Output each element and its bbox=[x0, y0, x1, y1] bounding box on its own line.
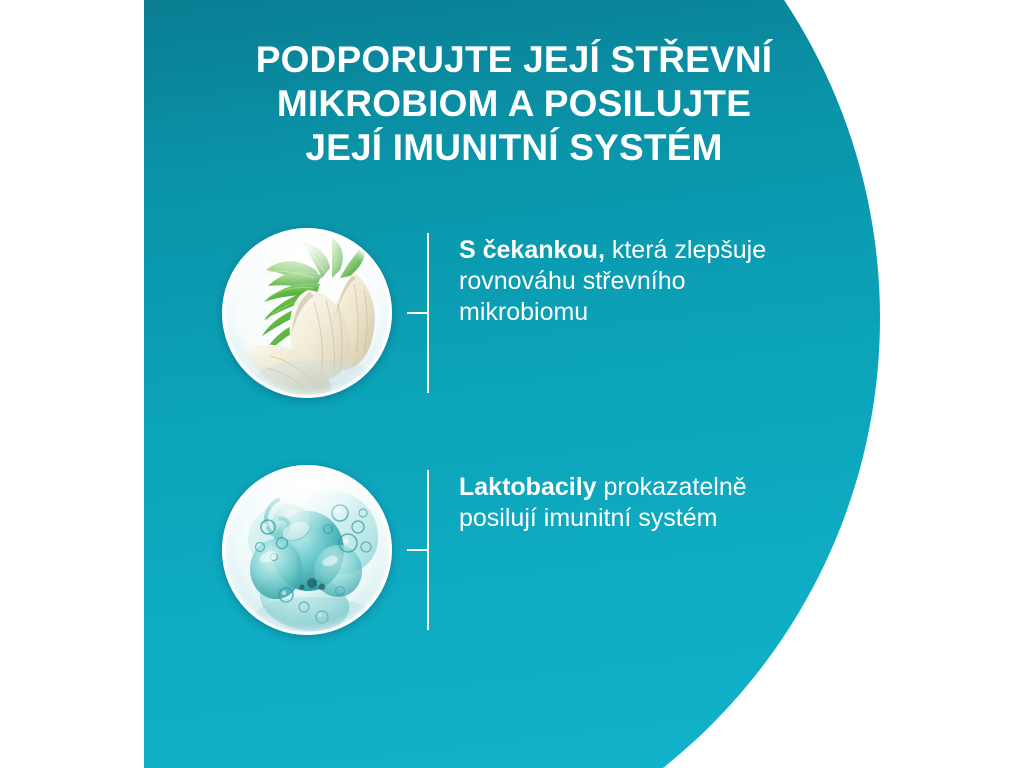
feature-divider-tick bbox=[407, 549, 427, 551]
feature-text-chicory: S čekankou, která zlepšuje rovnováhu stř… bbox=[459, 235, 819, 328]
chicory-root-petri-dish-photo bbox=[222, 228, 392, 398]
feature-lead-label: Laktobacily bbox=[459, 473, 597, 501]
lactobacilli-gel-bubbles-photo bbox=[222, 465, 392, 635]
page-title: PODPORUJTE JEJÍ STŘEVNÍ MIKROBIOM A POSI… bbox=[144, 38, 884, 170]
feature-divider-line bbox=[427, 233, 429, 393]
feature-lead-label: S čekankou, bbox=[459, 236, 605, 264]
feature-row-lactobacilli: Laktobacily prokazatelně posilují imunit… bbox=[0, 450, 1024, 650]
feature-row-chicory: S čekankou, která zlepšuje rovnováhu stř… bbox=[0, 213, 1024, 413]
chicory-root-artwork bbox=[222, 228, 392, 398]
infographic-canvas: PODPORUJTE JEJÍ STŘEVNÍ MIKROBIOM A POSI… bbox=[0, 0, 1024, 768]
feature-text-lactobacilli: Laktobacily prokazatelně posilují imunit… bbox=[459, 472, 819, 534]
feature-divider-line bbox=[427, 470, 429, 630]
lactobacilli-artwork bbox=[222, 465, 392, 635]
feature-divider-tick bbox=[407, 312, 427, 314]
